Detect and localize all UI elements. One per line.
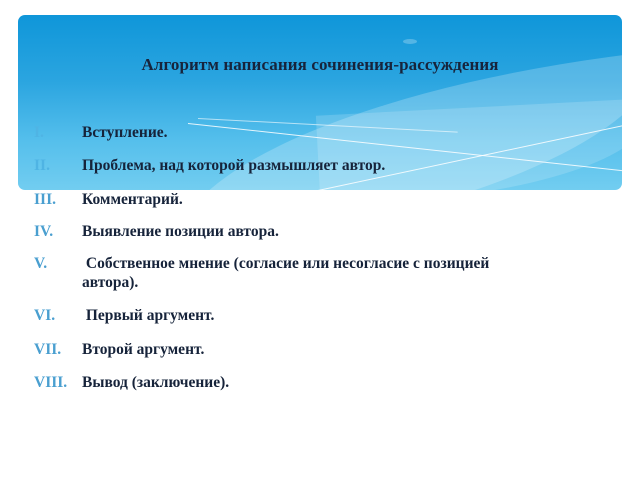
list-item-label: Комментарий. [82,191,504,210]
algorithm-steps-list: I. Вступление. II. Проблема, над которой… [34,124,504,408]
list-item: II. Проблема, над которой размышляет авт… [34,157,504,176]
list-item-marker: IV. [34,223,82,242]
list-item: VI. Первый аргумент. [34,307,504,326]
list-item: VII. Второй аргумент. [34,341,504,360]
list-item-marker: V. [34,255,82,274]
list-item: V. Собственное мнение (согласие или несо… [34,255,504,293]
decorative-speck-icon [403,39,417,44]
list-item-marker: I. [34,124,82,143]
list-item-label: Вступление. [82,124,504,143]
list-item-marker: II. [34,157,82,176]
slide-canvas: Алгоритм написания сочинения-рассуждения… [0,0,640,480]
list-item-marker: VII. [34,341,82,360]
list-item-label: Второй аргумент. [82,341,504,360]
list-item: VIII. Вывод (заключение). [34,374,504,393]
list-item: III. Комментарий. [34,191,504,210]
list-item-label: Проблема, над которой размышляет автор. [82,157,504,176]
list-item-label: Первый аргумент. [82,307,504,326]
list-item-marker: VIII. [34,374,82,393]
list-item-label: Выявление позиции автора. [82,223,504,242]
list-item: I. Вступление. [34,124,504,143]
list-item-label: Вывод (заключение). [82,374,504,393]
list-item-marker: III. [34,191,82,210]
list-item: IV. Выявление позиции автора. [34,223,504,242]
slide-title: Алгоритм написания сочинения-рассуждения [60,55,580,75]
list-item-label: Собственное мнение (согласие или несогла… [82,255,504,293]
list-item-marker: VI. [34,307,82,326]
